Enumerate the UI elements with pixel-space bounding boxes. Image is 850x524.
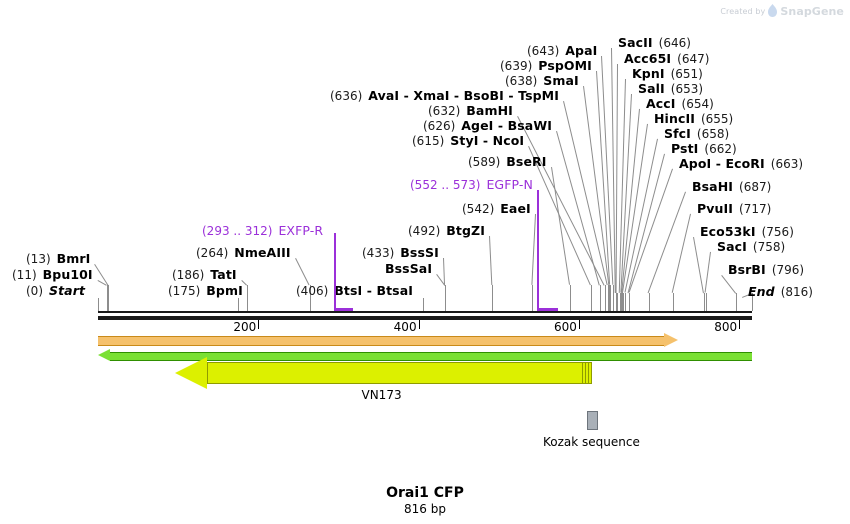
- enzyme-position: (756): [756, 225, 794, 239]
- enzyme-position: (816): [775, 285, 813, 299]
- enzyme-position: (492): [408, 224, 446, 238]
- site-tick: [706, 293, 707, 311]
- feature-vn173-arrowhead[interactable]: [175, 357, 207, 389]
- enzyme-position: (796): [766, 263, 804, 277]
- enzyme-name: BtgZI: [446, 223, 485, 238]
- enzyme-position: (186): [172, 268, 210, 282]
- site-tick: [107, 285, 108, 311]
- site-tick: [617, 293, 618, 311]
- enzyme-label[interactable]: (632) BamHI: [428, 104, 513, 118]
- enzyme-label[interactable]: AccI (654): [646, 97, 714, 111]
- leader-line: [551, 167, 570, 285]
- leader-line: [616, 64, 618, 293]
- leader-line: [583, 86, 609, 285]
- enzyme-label[interactable]: End (816): [748, 285, 813, 299]
- backbone-line-bottom: [98, 316, 752, 320]
- leader-line: [628, 169, 673, 293]
- leader-line: [531, 214, 536, 285]
- site-tick: [570, 285, 571, 311]
- ruler-tick-label: 600: [549, 320, 577, 334]
- enzyme-label[interactable]: (643) ApaI: [527, 44, 597, 58]
- site-tick: [673, 293, 674, 311]
- enzyme-position: (687): [733, 180, 771, 194]
- plasmid-map: Created by SnapGene (13) BmrI(11) Bpu10I…: [0, 0, 850, 524]
- primer-bracket-stem: [537, 190, 539, 311]
- enzyme-position: (13): [26, 252, 57, 266]
- enzyme-name: PspOMI: [538, 58, 592, 73]
- enzyme-name: SacI: [717, 239, 747, 254]
- enzyme-label[interactable]: Acc65I (647): [624, 52, 709, 66]
- enzyme-name: End: [748, 284, 775, 299]
- enzyme-name: Acc65I: [624, 51, 671, 66]
- kozak-swatch: [587, 411, 598, 430]
- enzyme-label[interactable]: SalI (653): [638, 82, 703, 96]
- enzyme-position: (653): [665, 82, 703, 96]
- watermark-created-by: Created by: [720, 7, 765, 16]
- enzyme-label[interactable]: BssSaI: [385, 262, 432, 276]
- enzyme-name: BseRI: [506, 154, 546, 169]
- enzyme-position: (433): [362, 246, 400, 260]
- site-tick: [649, 293, 650, 311]
- enzyme-name: EaeI: [500, 201, 531, 216]
- enzyme-label[interactable]: (615) StyI - NcoI: [412, 134, 524, 148]
- feature-vn173-body[interactable]: [207, 362, 592, 384]
- enzyme-name: ApoI - EcoRI: [679, 156, 765, 171]
- enzyme-label[interactable]: (589) BseRI: [468, 155, 547, 169]
- enzyme-label[interactable]: (636) AvaI - XmaI - BsoBI - TspMI: [330, 89, 559, 103]
- primer-bracket-stem: [334, 233, 336, 311]
- site-tick: [600, 285, 601, 311]
- ruler-tick: [258, 320, 259, 329]
- enzyme-name: StyI - NcoI: [450, 133, 524, 148]
- ruler-tick-label: 400: [389, 320, 417, 334]
- enzyme-label[interactable]: (175) BpmI: [168, 284, 243, 298]
- enzyme-label[interactable]: (186) TatI: [172, 268, 237, 282]
- feature-orange-body[interactable]: [98, 336, 664, 346]
- ruler-tick: [739, 320, 740, 329]
- enzyme-name: AccI: [646, 96, 676, 111]
- watermark-brand: SnapGene: [780, 5, 844, 18]
- enzyme-position: (615): [412, 134, 450, 148]
- enzyme-position: (647): [671, 52, 709, 66]
- site-tick: [423, 298, 424, 311]
- enzyme-label[interactable]: (638) SmaI: [505, 74, 579, 88]
- enzyme-name: PstI: [671, 141, 698, 156]
- enzyme-label[interactable]: (11) Bpu10I: [12, 268, 93, 282]
- enzyme-label[interactable]: (626) AgeI - BsaWI: [423, 119, 552, 133]
- enzyme-name: HincII: [654, 111, 695, 126]
- site-tick: [623, 293, 624, 311]
- primer-name: EGFP-N: [486, 177, 533, 192]
- enzyme-name: ApaI: [565, 43, 597, 58]
- enzyme-position: (639): [500, 59, 538, 73]
- enzyme-name: PvuII: [697, 201, 733, 216]
- site-tick: [625, 293, 626, 311]
- enzyme-position: (632): [428, 104, 466, 118]
- enzyme-position: (643): [527, 44, 565, 58]
- enzyme-name: BsrBI: [728, 262, 766, 277]
- enzyme-label[interactable]: HincII (655): [654, 112, 733, 126]
- enzyme-position: (651): [665, 67, 703, 81]
- enzyme-position: (0): [26, 284, 49, 298]
- enzyme-name: BamHI: [466, 103, 513, 118]
- leader-line: [721, 275, 736, 294]
- enzyme-label[interactable]: ApoI - EcoRI (663): [679, 157, 803, 171]
- enzyme-position: (717): [733, 202, 771, 216]
- primer-name: EXFP-R: [278, 223, 323, 238]
- enzyme-label[interactable]: SacII (646): [618, 36, 691, 50]
- enzyme-position: (406): [296, 284, 334, 298]
- enzyme-name: KpnI: [632, 66, 665, 81]
- leader-line: [648, 192, 686, 293]
- enzyme-position: (11): [12, 268, 43, 282]
- primer-label[interactable]: (552 .. 573) EGFP-N: [410, 178, 533, 192]
- enzyme-label[interactable]: (542) EaeI: [462, 202, 531, 216]
- snapgene-logo-icon: [768, 2, 777, 21]
- enzyme-position: (662): [698, 142, 736, 156]
- enzyme-position: (636): [330, 89, 368, 103]
- enzyme-label[interactable]: (264) NmeAIII: [196, 246, 291, 260]
- site-tick: [247, 285, 248, 311]
- leader-line: [705, 252, 711, 293]
- leader-line: [693, 237, 704, 293]
- site-tick: [591, 285, 592, 311]
- enzyme-label[interactable]: (492) BtgZI: [408, 224, 485, 238]
- enzyme-name: SacII: [618, 35, 653, 50]
- enzyme-label[interactable]: BsrBI (796): [728, 263, 804, 277]
- backbone-line-top: [98, 311, 752, 313]
- leader-line: [295, 258, 309, 285]
- enzyme-label[interactable]: KpnI (651): [632, 67, 703, 81]
- enzyme-position: (654): [676, 97, 714, 111]
- plasmid-length: 816 bp: [0, 502, 850, 516]
- enzyme-name: Start: [49, 283, 85, 298]
- enzyme-name: BtsI - BtsaI: [334, 283, 413, 298]
- enzyme-name: SfcI: [664, 126, 691, 141]
- enzyme-position: (658): [691, 127, 729, 141]
- enzyme-name: BssSaI: [385, 261, 432, 276]
- ruler-tick: [579, 320, 580, 329]
- site-tick: [98, 298, 99, 311]
- leader-line: [443, 258, 445, 285]
- enzyme-label[interactable]: (639) PspOMI: [500, 59, 592, 73]
- enzyme-label[interactable]: SfcI (658): [664, 127, 729, 141]
- enzyme-label[interactable]: (406) BtsI - BtsaI: [296, 284, 413, 298]
- enzyme-position: (542): [462, 202, 500, 216]
- site-tick: [445, 285, 446, 311]
- site-tick: [629, 293, 630, 311]
- kozak-legend-label: Kozak sequence: [543, 435, 640, 449]
- enzyme-position: (626): [423, 119, 461, 133]
- enzyme-name: Eco53kI: [700, 224, 756, 239]
- enzyme-name: BsaHI: [692, 179, 733, 194]
- site-tick: [610, 285, 611, 311]
- site-tick: [605, 285, 606, 311]
- enzyme-name: BpmI: [206, 283, 243, 298]
- enzyme-label[interactable]: (0) Start: [26, 284, 85, 298]
- primer-range: (293 .. 312): [202, 224, 278, 238]
- enzyme-name: TatI: [210, 267, 236, 282]
- enzyme-name: AvaI - XmaI - BsoBI - TspMI: [368, 88, 559, 103]
- primer-range: (552 .. 573): [410, 178, 486, 192]
- enzyme-position: (655): [695, 112, 733, 126]
- snapgene-watermark: Created by SnapGene: [720, 2, 844, 21]
- enzyme-name: SalI: [638, 81, 665, 96]
- enzyme-position: (663): [765, 157, 803, 171]
- feature-green-arrowhead[interactable]: [98, 349, 110, 361]
- feature-vn173-label: VN173: [362, 388, 402, 402]
- enzyme-name: NmeAIII: [234, 245, 290, 260]
- enzyme-position: (175): [168, 284, 206, 298]
- enzyme-position: (758): [747, 240, 785, 254]
- ruler-tick: [419, 320, 420, 329]
- enzyme-label[interactable]: PstI (662): [671, 142, 737, 156]
- ruler-tick-label: 800: [709, 320, 737, 334]
- enzyme-name: BssSI: [400, 245, 439, 260]
- enzyme-label[interactable]: PvuII (717): [697, 202, 771, 216]
- enzyme-label[interactable]: SacI (758): [717, 240, 785, 254]
- leader-line: [563, 101, 608, 285]
- enzyme-name: SmaI: [543, 73, 579, 88]
- leader-line: [489, 236, 492, 285]
- enzyme-name: AgeI - BsaWI: [461, 118, 552, 133]
- enzyme-label[interactable]: BsaHI (687): [692, 180, 771, 194]
- enzyme-name: Bpu10I: [43, 267, 93, 282]
- enzyme-position: (638): [505, 74, 543, 88]
- enzyme-position: (264): [196, 246, 234, 260]
- primer-label[interactable]: (293 .. 312) EXFP-R: [202, 224, 323, 238]
- feature-orange-arrowhead[interactable]: [664, 333, 678, 347]
- enzyme-position: (589): [468, 155, 506, 169]
- enzyme-label[interactable]: (13) BmrI: [26, 252, 90, 266]
- site-tick: [492, 285, 493, 311]
- site-tick: [736, 293, 737, 311]
- site-tick: [238, 298, 239, 311]
- site-tick: [532, 285, 533, 311]
- enzyme-label[interactable]: (433) BssSI: [362, 246, 439, 260]
- leader-line: [672, 214, 691, 293]
- page-title: Orai1 CFP: [0, 485, 850, 501]
- feature-vn173-cap: [582, 363, 591, 383]
- enzyme-label[interactable]: Eco53kI (756): [700, 225, 794, 239]
- enzyme-name: BmrI: [57, 251, 91, 266]
- ruler-tick-label: 200: [228, 320, 256, 334]
- site-tick: [108, 285, 109, 311]
- enzyme-position: (646): [653, 36, 691, 50]
